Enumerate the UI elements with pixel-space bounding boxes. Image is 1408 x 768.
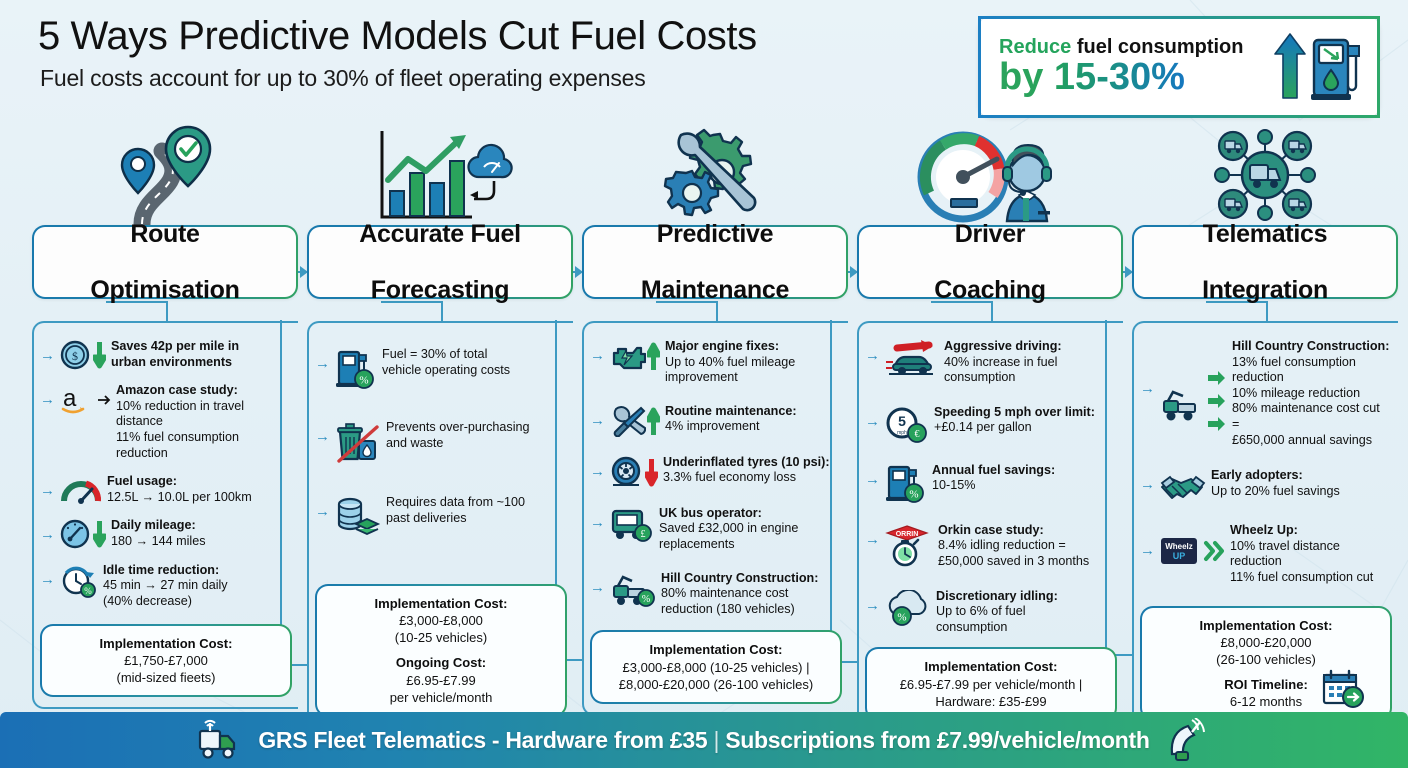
bullet-arrow-icon: → <box>40 572 55 587</box>
bullet-arrow-icon: → <box>40 392 55 407</box>
connector-stub <box>991 301 993 323</box>
bullet-arrow-icon: → <box>1140 477 1155 492</box>
column-body-telematics-integration: → Hill Country Construction: <box>1132 321 1398 733</box>
cost-title: Implementation Cost: <box>1150 617 1382 634</box>
engine-icon <box>610 339 660 372</box>
bullet-arrow-icon: → <box>40 527 55 542</box>
bullet-arrow-icon: → <box>590 515 605 530</box>
road-with-map-pins-icon <box>32 120 298 225</box>
fact-line: 180 → 144 miles <box>111 534 206 548</box>
fact-line: Early adopters: <box>1211 468 1303 482</box>
fact-text: Orkin case study: 8.4% idling reduction … <box>938 523 1089 570</box>
fact-text: Wheelz Up: 10% travel distance reduction… <box>1230 523 1373 585</box>
up-arrow-icon <box>647 340 660 372</box>
fact-line: Fuel usage: <box>107 474 177 488</box>
svg-text:UP: UP <box>1173 551 1186 561</box>
bullet-arrow-icon: → <box>590 413 605 428</box>
fact-line: Hill Country Construction: <box>1232 339 1389 353</box>
svg-text:€: € <box>915 429 920 440</box>
fact-text: Underinflated tyres (10 psi): 3.3% fuel … <box>663 455 830 486</box>
fact-line: distance <box>116 414 163 428</box>
title-line-2: Optimisation <box>90 276 239 304</box>
fact-text: Hill Country Construction: 13% fuel cons… <box>1232 339 1389 448</box>
svg-text:a: a <box>63 385 77 412</box>
column-title-route-optimisation[interactable]: Route Optimisation <box>32 225 298 299</box>
fact-line: UK bus operator: <box>659 506 762 520</box>
column-title-telematics-integration[interactable]: Telematics Integration <box>1132 225 1398 299</box>
down-arrow-red-icon <box>645 456 658 488</box>
fact-line: reduction <box>1232 370 1284 384</box>
bullet-arrow-icon: → <box>1140 381 1155 396</box>
speedometer-icon <box>60 518 106 549</box>
bullet-arrow-icon: → <box>590 464 605 479</box>
header: 5 Ways Predictive Models Cut Fuel Costs … <box>38 14 968 92</box>
facts-list: → $ Saves 42p per mile in urban environm… <box>34 337 298 610</box>
triple-green-arrows-icon <box>1207 369 1227 441</box>
facts-list: → Hill Country Construction: <box>1134 337 1398 586</box>
fact-item: → % Hill Country Construction: 80% maint… <box>590 571 842 618</box>
cost-value-2: £8,000-£20,000 (26-100 vehicles) <box>600 676 832 693</box>
up-arrow-icon <box>647 405 660 437</box>
bullet-arrow-icon: → <box>865 348 880 363</box>
tyre-wheel-icon <box>610 455 658 488</box>
wheelz-up-logo-icon: WheelzUP <box>1160 523 1225 567</box>
fact-line: Idle time reduction: <box>103 563 219 577</box>
facts-list: → Aggressive driving: 40% increase in fu… <box>859 337 1123 635</box>
bar-chart-growth-cloud-icon <box>307 120 573 225</box>
footer-text: GRS Fleet Telematics - Hardware from £35… <box>258 727 1149 754</box>
fact-line: 8.4% idling reduction = <box>938 538 1066 552</box>
fact-item: → Prevents over-purchasing and waste <box>315 420 567 465</box>
fact-text: Idle time reduction: 45 min → 27 min dai… <box>103 563 228 610</box>
column-title-predictive-maintenance[interactable]: Predictive Maintenance <box>582 225 848 299</box>
title-line-2: Forecasting <box>359 276 520 304</box>
fact-text: Discretionary idling: Up to 6% of fuel c… <box>936 589 1058 636</box>
satellite-dish-icon <box>1164 718 1212 762</box>
title-line-2: Integration <box>1202 276 1328 304</box>
title-line-1: Telematics <box>1202 220 1328 248</box>
fact-item: → Daily mileage: 180 → 144 miles <box>40 518 292 549</box>
svg-text:%: % <box>84 586 92 596</box>
column-body-accurate-fuel-forecasting: → % Fuel = 30% of total vehicle operatin… <box>307 321 573 729</box>
construction-truck-percent-icon: % <box>610 571 656 608</box>
page-subtitle: Fuel costs account for up to 30% of flee… <box>40 65 968 92</box>
fact-item: → WheelzUP Wheelz Up: 10% travel distanc… <box>1140 523 1392 585</box>
svg-text:ORRIN: ORRIN <box>896 531 919 538</box>
fact-item: → % Annual fuel savings: 10-15% <box>865 463 1117 504</box>
cost-title: Implementation Cost: <box>50 635 282 652</box>
title-line-1: Accurate Fuel <box>359 220 520 248</box>
gauge-meter-icon <box>60 474 102 505</box>
connector-stub <box>441 301 443 323</box>
fact-line: Aggressive driving: <box>944 339 1062 353</box>
column-body-driver-coaching: → Aggressive driving: 40% increase in fu… <box>857 321 1123 733</box>
fuel-pump-percent-icon: % <box>885 463 927 504</box>
fact-line: Fuel = 30% of total <box>382 347 487 361</box>
column-predictive-maintenance: Predictive Maintenance → Major engine fi… <box>582 120 848 716</box>
cost-box-predictive-maintenance: Implementation Cost: £3,000-£8,000 (10-2… <box>590 630 842 703</box>
fact-item: → Fuel usage: 12.5L → 10.0L per 100km <box>40 474 292 505</box>
fact-line: consumption <box>936 620 1007 634</box>
fact-line: 10-15% <box>932 478 975 492</box>
amazon-logo-icon: a <box>60 383 111 416</box>
column-title-driver-coaching[interactable]: Driver Coaching <box>857 225 1123 299</box>
cost-note: (10-25 vehicles) <box>325 629 557 646</box>
cost-title: Implementation Cost: <box>875 658 1107 675</box>
down-arrow-icon <box>93 519 106 549</box>
bullet-arrow-icon: → <box>590 348 605 363</box>
svg-text:%: % <box>909 488 918 500</box>
fuel-pump-icon <box>1311 32 1363 102</box>
badge-fuel-consumption-word: fuel consumption <box>1077 36 1244 58</box>
fact-text: Hill Country Construction: 80% maintenan… <box>661 571 818 618</box>
cost-value: £3,000-£8,000 (10-25 vehicles) | <box>600 659 832 676</box>
fact-line: 12.5L → 10.0L per 100km <box>107 490 252 504</box>
cost-spacer <box>325 646 557 654</box>
cost-title: Implementation Cost: <box>325 595 557 612</box>
fact-line: £650,000 annual savings <box>1232 433 1372 447</box>
fact-line: 40% increase in fuel <box>944 355 1057 369</box>
fact-line: 3.3% fuel economy loss <box>663 470 796 484</box>
fact-item: → Requires data from ~100 past deliverie… <box>315 495 567 538</box>
cost-value: £8,000-£20,000 <box>1150 634 1382 651</box>
cost-box-accurate-fuel-forecasting: Implementation Cost: £3,000-£8,000 (10-2… <box>315 584 567 717</box>
column-accurate-fuel-forecasting: Accurate Fuel Forecasting → % Fuel = 30%… <box>307 120 573 729</box>
cost-value: £3,000-£8,000 <box>325 612 557 629</box>
footer-separator: | <box>713 727 719 753</box>
fact-line: Up to 6% of fuel <box>936 604 1026 618</box>
facts-list: → Major engine fixes: Up to 40% fuel mil… <box>584 337 848 617</box>
fact-item: → % Fuel = 30% of total vehicle operatin… <box>315 347 567 390</box>
bullet-arrow-icon: → <box>40 348 55 363</box>
no-waste-bin-icon <box>335 420 381 465</box>
cost-box-driver-coaching: Implementation Cost: £6.95-£7.99 per veh… <box>865 647 1117 720</box>
fact-line: reduction <box>116 446 168 460</box>
right-arrow-icon <box>97 385 111 415</box>
bullet-arrow-icon: → <box>40 483 55 498</box>
column-body-route-optimisation: → $ Saves 42p per mile in urban environm… <box>32 321 298 709</box>
badge-icon-group <box>1273 32 1377 102</box>
fact-line: 11% fuel consumption cut <box>1230 570 1373 584</box>
badge-percentage-value: 15-30% <box>1054 56 1185 98</box>
svg-text:$: $ <box>72 349 78 363</box>
fact-item: → Major engine fixes: Up to 40% fuel mil… <box>590 339 842 386</box>
cost-value: £6.95-£7.99 per vehicle/month | <box>875 676 1107 693</box>
fact-line: £50,000 saved in 3 months <box>938 554 1089 568</box>
svg-text:%: % <box>642 594 650 605</box>
fact-item: → Hill Country Construction: <box>1140 339 1392 448</box>
bullet-arrow-icon: → <box>865 472 880 487</box>
title-line-1: Driver <box>934 220 1046 248</box>
connector-stub <box>716 301 718 323</box>
tools-wrench-screwdriver-icon <box>610 404 660 437</box>
fact-line: Saved £32,000 in engine <box>659 521 798 535</box>
fact-line: 80% maintenance cost cut <box>1232 401 1380 415</box>
down-arrow-icon <box>93 340 106 370</box>
badge-reduce-word: Reduce <box>999 36 1071 58</box>
fact-text: Early adopters: Up to 20% fuel savings <box>1211 468 1340 499</box>
column-driver-coaching: Driver Coaching → Aggressive driving: 40… <box>857 120 1123 733</box>
fact-line: Up to 20% fuel savings <box>1211 484 1340 498</box>
fact-text: Amazon case study: 10% reduction in trav… <box>116 383 244 461</box>
bullet-arrow-icon: → <box>590 580 605 595</box>
speedometer-with-operator-icon <box>857 120 1123 225</box>
fact-item: → a Amazon case study: 10% reduction in … <box>40 383 292 461</box>
badge-line-2: by 15-30% <box>999 58 1273 98</box>
column-telematics-integration: Telematics Integration → <box>1132 120 1398 733</box>
fact-line: 80% maintenance cost <box>661 586 788 600</box>
fact-line: 45 min → 27 min daily <box>103 578 228 592</box>
fact-line: past deliveries <box>386 511 467 525</box>
fact-line: 10% travel distance <box>1230 539 1340 553</box>
svg-text:£: £ <box>641 529 646 540</box>
bullet-arrow-icon: → <box>315 504 330 519</box>
bullet-arrow-icon: → <box>865 414 880 429</box>
fact-line: improvement <box>665 370 738 384</box>
fact-item: → Underinflated tyres (10 psi): 3.3% fue… <box>590 455 842 488</box>
fact-line: Requires data from ~100 <box>386 495 525 509</box>
fact-text: Routine maintenance: 4% improvement <box>665 404 797 435</box>
wrench-and-gear-icon <box>582 120 848 225</box>
construction-truck-icon <box>1160 339 1227 441</box>
fact-item: → % Discretionary idling: Up to 6% of fu… <box>865 589 1117 636</box>
title-line-1: Predictive <box>641 220 789 248</box>
handshake-icon <box>1160 468 1206 503</box>
fact-line: Up to 40% fuel mileage <box>665 355 795 369</box>
bullet-arrow-icon: → <box>315 429 330 444</box>
fact-text: Annual fuel savings: 10-15% <box>932 463 1055 494</box>
fact-text: Daily mileage: 180 → 144 miles <box>111 518 206 549</box>
fact-line: reduction (180 vehicles) <box>661 602 795 616</box>
bullet-arrow-icon: → <box>315 356 330 371</box>
truck-network-hub-icon <box>1132 120 1398 225</box>
column-route-optimisation: Route Optimisation → $ Saves 42p per mil… <box>32 120 298 709</box>
fact-item: → Early adopters: Up to 20% fuel savings <box>1140 468 1392 503</box>
fact-line: reduction <box>1230 554 1282 568</box>
fact-line: Major engine fixes: <box>665 339 779 353</box>
calendar-arrow-icon <box>1320 669 1366 709</box>
cost-value: £1,750-£7,000 <box>50 652 282 669</box>
column-title-accurate-fuel-forecasting[interactable]: Accurate Fuel Forecasting <box>307 225 573 299</box>
fact-line: 13% fuel consumption <box>1232 355 1356 369</box>
fact-line: Discretionary idling: <box>936 589 1058 603</box>
footer-part-2: Subscriptions from £7.99/vehicle/month <box>725 727 1149 753</box>
fact-item: → $ Saves 42p per mile in urban environm… <box>40 339 292 370</box>
double-chevron-icon <box>1203 535 1225 567</box>
bullet-arrow-icon: → <box>1140 543 1155 558</box>
fact-text: Speeding 5 mph over limit: +£0.14 per ga… <box>934 405 1095 436</box>
fact-item: → ORRIN Orkin case study: 8.4% idling re… <box>865 523 1117 570</box>
fact-line: (40% decrease) <box>103 594 192 608</box>
bus-pound-icon: £ <box>610 506 654 543</box>
clock-reduction-icon: % <box>60 563 98 598</box>
connector-stub <box>166 301 168 323</box>
fact-line: Wheelz Up: <box>1230 523 1298 537</box>
fact-line: Underinflated tyres (10 psi): <box>663 455 830 469</box>
fact-text: Saves 42p per mile in urban environments <box>111 339 239 370</box>
fact-text: Aggressive driving: 40% increase in fuel… <box>944 339 1062 386</box>
fact-text: Major engine fixes: Up to 40% fuel milea… <box>665 339 795 386</box>
fact-line: Annual fuel savings: <box>932 463 1055 477</box>
fact-line: Daily mileage: <box>111 518 196 532</box>
fact-line: 10% reduction in travel <box>116 399 244 413</box>
database-stack-icon <box>335 495 381 538</box>
fact-item: → Routine maintenance: 4% improvement <box>590 404 842 437</box>
fact-line: Saves 42p per mile in <box>111 339 239 353</box>
cost-note: (mid-sized fieets) <box>50 669 282 686</box>
svg-text:5: 5 <box>898 413 906 429</box>
ongoing-cost-title: Ongoing Cost: <box>325 654 557 671</box>
cloud-percent-icon: % <box>885 589 931 626</box>
title-line-2: Coaching <box>934 276 1046 304</box>
cost-note: (26-100 vehicles) <box>1150 651 1382 668</box>
fact-line: Amazon case study: <box>116 383 238 397</box>
fact-line: Orkin case study: <box>938 523 1044 537</box>
svg-text:Wheelz: Wheelz <box>1165 542 1193 551</box>
fact-line: 4% improvement <box>665 419 760 433</box>
fuel-pump-percent-icon: % <box>335 347 377 390</box>
svg-text:%: % <box>359 375 368 387</box>
fact-line: +£0.14 per gallon <box>934 420 1032 434</box>
orkin-logo-stopwatch-icon: ORRIN <box>885 523 933 568</box>
svg-text:%: % <box>897 611 906 623</box>
ongoing-cost-note: per vehicle/month <box>325 689 557 706</box>
fact-text: Requires data from ~100 past deliveries <box>386 495 525 526</box>
fact-line: urban environments <box>111 355 232 369</box>
connector-stub <box>1266 301 1268 323</box>
bullet-arrow-icon: → <box>865 532 880 547</box>
fact-line: Hill Country Construction: <box>661 571 818 585</box>
cost-box-telematics-integration: Implementation Cost: £8,000-£20,000 (26-… <box>1140 606 1392 722</box>
fact-item: → £ UK bus operator: Saved £32,000 in en… <box>590 506 842 553</box>
facts-list: → % Fuel = 30% of total vehicle operatin… <box>309 337 573 538</box>
fact-line: Speeding 5 mph over limit: <box>934 405 1095 419</box>
fact-text: UK bus operator: Saved £32,000 in engine… <box>659 506 798 553</box>
svg-text:mph: mph <box>897 430 907 436</box>
page-title: 5 Ways Predictive Models Cut Fuel Costs <box>38 14 968 59</box>
ongoing-cost-value: £6.95-£7.99 <box>325 672 557 689</box>
fact-text: Fuel = 30% of total vehicle operating co… <box>382 347 510 378</box>
fact-text: Prevents over-purchasing and waste <box>386 420 530 451</box>
badge-line-1: Reduce fuel consumption <box>999 36 1273 58</box>
fact-line: 10% mileage reduction <box>1232 386 1360 400</box>
badge-by-word: by <box>999 56 1043 98</box>
fact-item: → 5mph€ Speeding 5 mph over limit: +£0.1… <box>865 405 1117 444</box>
up-arrow-icon <box>1273 32 1307 102</box>
bullet-arrow-icon: → <box>865 598 880 613</box>
cost-title: Implementation Cost: <box>600 641 832 658</box>
fact-item: → Aggressive driving: 40% increase in fu… <box>865 339 1117 386</box>
infographic-root: 5 Ways Predictive Models Cut Fuel Costs … <box>0 0 1408 768</box>
footer-part-1: GRS Fleet Telematics - Hardware from £35 <box>258 727 707 753</box>
title-line-1: Route <box>90 220 239 248</box>
telematics-truck-icon <box>196 719 244 761</box>
speed-limit-5mph-icon: 5mph€ <box>885 405 929 444</box>
fact-line: vehicle operating costs <box>382 363 510 377</box>
cost-box-route-optimisation: Implementation Cost: £1,750-£7,000 (mid-… <box>40 624 292 697</box>
fact-line: consumption <box>944 370 1015 384</box>
fact-line: and waste <box>386 436 443 450</box>
fact-text: Fuel usage: 12.5L → 10.0L per 100km <box>107 474 252 505</box>
footer-banner: GRS Fleet Telematics - Hardware from £35… <box>0 712 1408 768</box>
fact-line: = <box>1232 417 1239 431</box>
coin-dollar-icon: $ <box>60 339 106 370</box>
fact-line: Routine maintenance: <box>665 404 797 418</box>
speeding-car-icon <box>885 339 939 376</box>
fact-item: → % Idle time reduction: 45 min → 27 min… <box>40 563 292 610</box>
cost-value-2: Hardware: £35-£99 <box>875 693 1107 710</box>
column-body-predictive-maintenance: → Major engine fixes: Up to 40% fuel mil… <box>582 321 848 716</box>
fact-line: replacements <box>659 537 735 551</box>
title-line-2: Maintenance <box>641 276 789 304</box>
fact-line: Prevents over-purchasing <box>386 420 530 434</box>
fact-line: 11% fuel consumption <box>116 430 239 444</box>
reduce-consumption-badge: Reduce fuel consumption by 15-30% <box>978 16 1380 118</box>
